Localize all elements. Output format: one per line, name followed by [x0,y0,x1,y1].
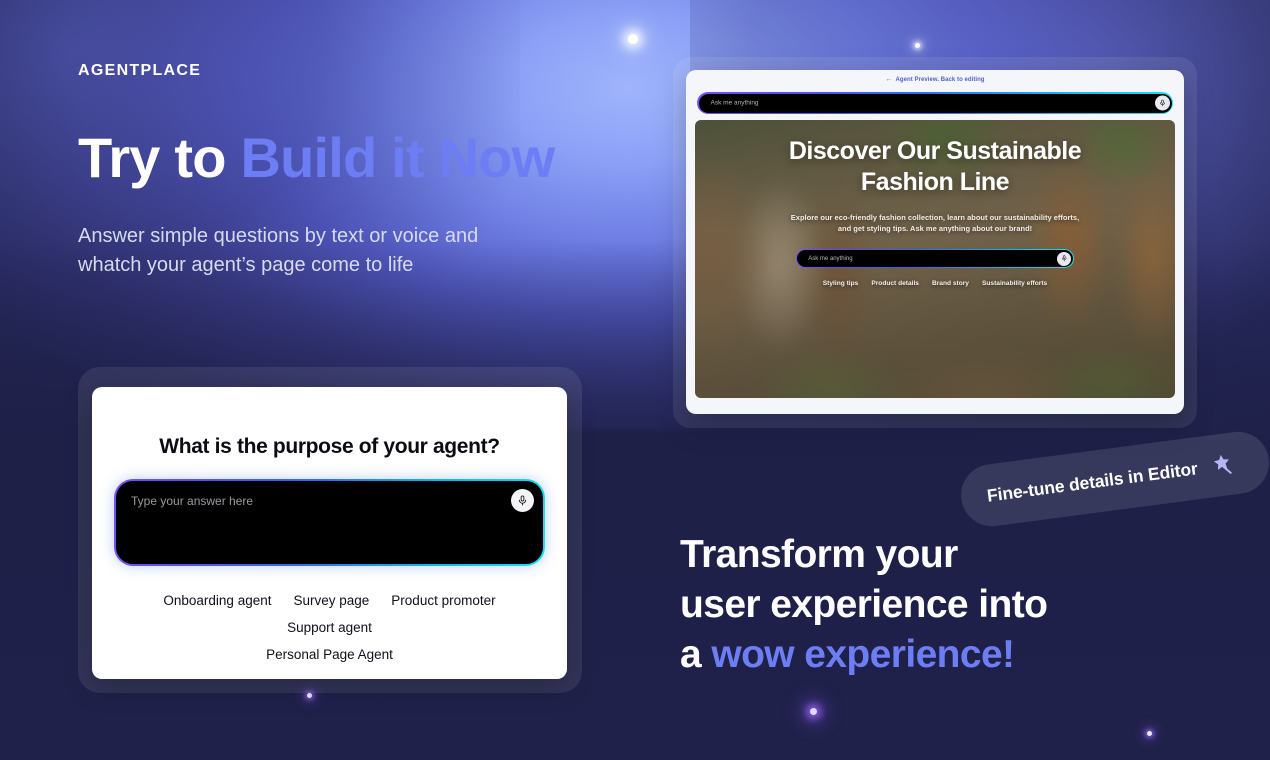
brand-wordmark: AGENTPLACE [78,62,201,80]
sparkle-dot-2 [915,43,920,48]
agent-page-search-input[interactable]: Ask me anything [797,250,1073,267]
tagline-line-2: user experience into [680,580,1160,630]
back-arrow-icon: ← [885,76,892,83]
agent-preview-panel: ← Agent Preview. Back to editing Ask me … [686,70,1184,414]
tagline-line-1: Transform your [680,530,1160,580]
suggestion-chip-product-promoter[interactable]: Product promoter [391,587,495,614]
quick-link-brand-story[interactable]: Brand story [932,280,969,287]
preview-search-input[interactable]: Ask me anything [699,94,1172,113]
suggestion-chip-survey-page[interactable]: Survey page [293,587,369,614]
landing-page: AGENTPLACE Try to Build it Now Answer si… [0,0,1270,760]
agent-page-description: Explore our eco-friendly fashion collect… [787,212,1083,234]
page-title-plain: Try to [78,126,240,189]
agent-page-headline: Discover Our Sustainable Fashion Line [785,136,1085,198]
sparkle-dot-5 [1147,731,1152,736]
answer-input-placeholder: Type your answer here [131,494,253,508]
tagline-line-3-accent: wow experience! [711,633,1014,676]
agent-page-quick-links: Styling tips Product details Brand story… [823,280,1047,287]
answer-input-wrapper[interactable]: Type your answer here [114,479,545,566]
magic-wand-star-icon [1207,450,1237,480]
sparkle-dot-4 [810,708,817,715]
fine-tune-badge-label: Fine-tune details in Editor [986,458,1199,507]
back-to-editing-label: Agent Preview. Back to editing [896,77,985,83]
tagline: Transform your user experience into a wo… [680,530,1160,680]
microphone-icon [1159,100,1166,107]
tagline-line-3-plain: a [680,633,711,676]
preview-microphone-button[interactable] [1155,96,1170,111]
page-title: Try to Build it Now [78,126,554,190]
suggestion-chips: Onboarding agentSurvey pageProduct promo… [118,587,541,668]
page-title-accent: Build it Now [240,126,554,189]
agent-page-search-placeholder: Ask me anything [808,256,852,262]
suggestion-row-2: Personal Page Agent [118,641,541,668]
suggestion-row-1: Onboarding agentSurvey pageProduct promo… [118,587,541,641]
tagline-line-3: a wow experience! [680,630,1160,680]
agent-page-search-wrapper[interactable]: Ask me anything [796,249,1074,268]
microphone-icon [1061,255,1068,262]
quick-link-styling-tips[interactable]: Styling tips [823,280,859,287]
answer-input[interactable]: Type your answer here [116,481,543,564]
hero-content: Discover Our Sustainable Fashion Line Ex… [695,120,1175,398]
quick-link-sustainability-efforts[interactable]: Sustainability efforts [982,280,1047,287]
suggestion-chip-support-agent[interactable]: Support agent [287,614,372,641]
sparkle-dot-1 [628,34,638,44]
suggestion-chip-onboarding-agent[interactable]: Onboarding agent [163,587,271,614]
preview-search-placeholder: Ask me anything [711,100,759,107]
microphone-icon [517,495,528,506]
agent-page-microphone-button[interactable] [1057,252,1071,266]
question-card: What is the purpose of your agent? Type … [92,387,567,679]
question-label: What is the purpose of your agent? [92,435,567,459]
agent-page-hero: Discover Our Sustainable Fashion Line Ex… [695,120,1175,398]
back-to-editing-link[interactable]: ← Agent Preview. Back to editing [686,70,1184,89]
suggestion-chip-personal-page-agent[interactable]: Personal Page Agent [266,641,393,668]
preview-search-wrapper[interactable]: Ask me anything [697,92,1173,114]
quick-link-product-details[interactable]: Product details [871,280,919,287]
page-subtitle: Answer simple questions by text or voice… [78,222,518,280]
sparkle-dot-3 [307,693,312,698]
microphone-button[interactable] [511,489,534,512]
